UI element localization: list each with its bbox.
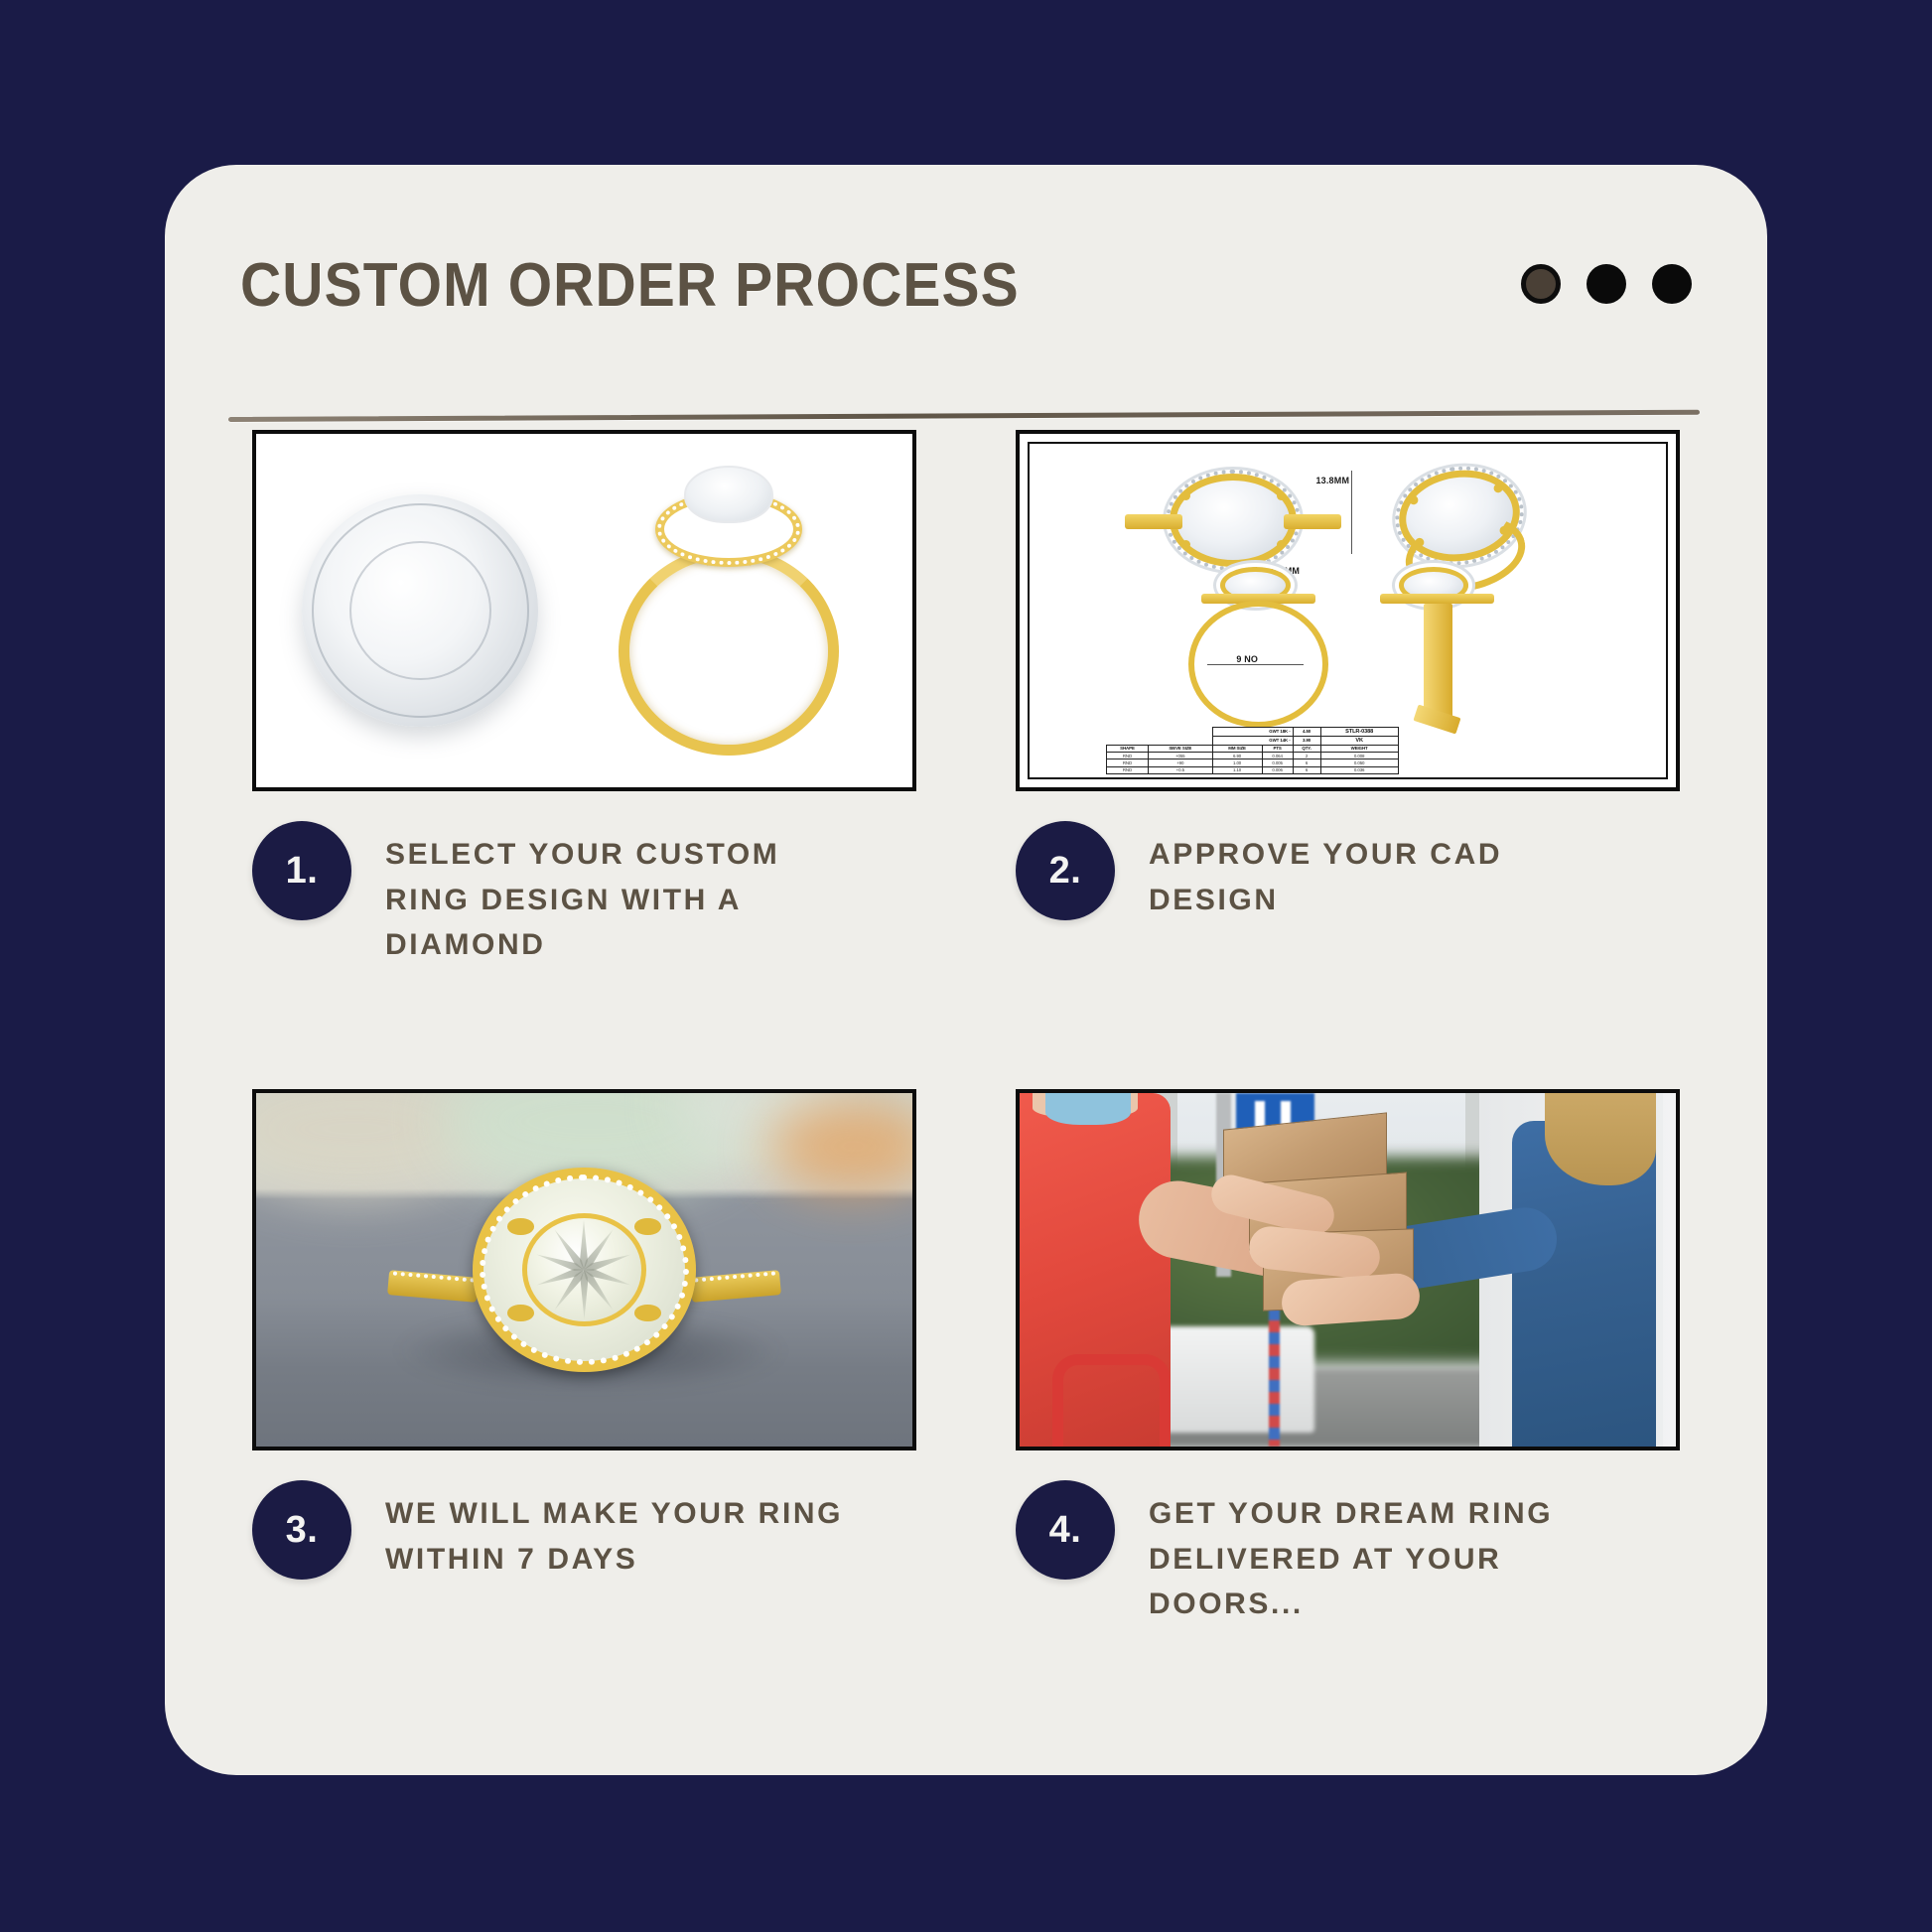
- cad-col-sieve-size: SIEVE SIZE: [1149, 745, 1212, 752]
- finished-gold-halo-ring-photo: [252, 1089, 916, 1450]
- cad-technical-drawing: 13.8MM 8.6MM: [1016, 430, 1680, 791]
- cad-gwt14k-label: GWT 14K -: [1212, 737, 1293, 746]
- cad-gwt14k-value: 3.90: [1293, 737, 1320, 746]
- cad-cell: 6: [1293, 759, 1320, 766]
- cad-shank-left: [1125, 514, 1182, 529]
- window-dot-brown-icon[interactable]: [1521, 264, 1561, 304]
- cad-cell: RND: [1106, 766, 1148, 773]
- step-cell-4: 4. GET YOUR DREAM RING DELIVERED AT YOUR…: [1016, 1089, 1680, 1711]
- cad-cell: 0.036: [1320, 766, 1398, 773]
- window-dot-black-2-icon[interactable]: [1652, 264, 1692, 304]
- steps-grid: 1. SELECT YOUR CUSTOM RING DESIGN WITH A…: [252, 430, 1680, 1711]
- cad-cell: RND: [1106, 753, 1148, 759]
- cad-side-profile: [1424, 604, 1452, 717]
- step-caption-2: 2. APPROVE YOUR CAD DESIGN: [1016, 821, 1680, 922]
- cad-dimension-line-size: [1207, 664, 1303, 666]
- window-dots: [1521, 264, 1692, 304]
- cad-col-shape: SHAPE: [1106, 745, 1148, 752]
- courier-handing-boxes-photo: [1016, 1089, 1680, 1450]
- cad-label-ring-size: 9 NO: [1236, 654, 1258, 664]
- cad-prong: [1277, 540, 1286, 549]
- cad-cell: +055: [1149, 753, 1212, 759]
- cad-cell: 0.005: [1262, 759, 1293, 766]
- cad-spec-row: GWT 18K - 4.50 STLR-0388: [1106, 728, 1398, 737]
- cad-cell: 0.050: [1320, 759, 1398, 766]
- page-title: CUSTOM ORDER PROCESS: [240, 250, 1020, 321]
- step-badge-4: 4.: [1016, 1480, 1115, 1580]
- cad-cell: RND: [1106, 759, 1148, 766]
- cad-side-gallery: [1380, 594, 1494, 604]
- step-text-4: GET YOUR DREAM RING DELIVERED AT YOUR DO…: [1149, 1480, 1615, 1627]
- step-badge-2: 2.: [1016, 821, 1115, 920]
- finished-ring-prong: [507, 1305, 533, 1321]
- finished-ring-center-stone: [522, 1213, 647, 1326]
- cad-dimension-line-height: [1351, 471, 1353, 554]
- center-stone-facets: [527, 1218, 642, 1321]
- cad-table-row: RND +90 1.00 0.005 6 0.050: [1106, 759, 1398, 766]
- gold-halo-ring-profile-graphic: [598, 466, 860, 756]
- cad-gwt18k-value: 4.50: [1293, 728, 1320, 737]
- step-badge-1: 1.: [252, 821, 351, 920]
- cad-cell: 6.90: [1212, 753, 1262, 759]
- cad-col-pts: PTS: [1262, 745, 1293, 752]
- cad-col-mm-size: MM SIZE: [1212, 745, 1262, 752]
- cad-cell: 1.00: [1212, 759, 1262, 766]
- diamond-shape: [302, 494, 538, 728]
- cad-cell: 0.008: [1320, 753, 1398, 759]
- cad-prong: [1181, 491, 1190, 500]
- loose-diamond-graphic: [302, 494, 538, 728]
- step-text-2: APPROVE YOUR CAD DESIGN: [1149, 821, 1615, 922]
- step-text-1: SELECT YOUR CUSTOM RING DESIGN WITH A DI…: [385, 821, 852, 968]
- step-cell-2: 13.8MM 8.6MM: [1016, 430, 1680, 1051]
- courier-hand-trolley: [1052, 1354, 1171, 1447]
- bokeh-blob: [768, 1100, 916, 1192]
- cad-table-row: RND +055 6.90 0.064 2 0.008: [1106, 753, 1398, 759]
- finished-ring-graphic: [473, 1168, 696, 1372]
- loose-diamond-and-gold-halo-ring-photo: [252, 430, 916, 791]
- process-card: CUSTOM ORDER PROCESS: [165, 165, 1767, 1775]
- ring-center-stone: [684, 466, 773, 523]
- finished-ring-halo: [473, 1168, 696, 1372]
- cad-sheet: 13.8MM 8.6MM: [1028, 442, 1668, 779]
- step-cell-1: 1. SELECT YOUR CUSTOM RING DESIGN WITH A…: [252, 430, 916, 1051]
- cad-prong: [1181, 540, 1190, 549]
- cad-spec-table: GWT 18K - 4.50 STLR-0388 GWT 14K - 3.90 …: [1106, 727, 1399, 774]
- step-text-3: WE WILL MAKE YOUR RING WITHIN 7 DAYS: [385, 1480, 852, 1582]
- window-dot-black-1-icon[interactable]: [1587, 264, 1626, 304]
- finished-ring-prong: [634, 1218, 660, 1235]
- cad-col-weight: WEIGHT: [1320, 745, 1398, 752]
- cad-cell: 0.006: [1262, 766, 1293, 773]
- card-header: CUSTOM ORDER PROCESS: [240, 222, 1692, 381]
- finished-ring-prong: [634, 1305, 660, 1321]
- cad-shank-right: [1284, 514, 1341, 529]
- cad-cell: 1.10: [1212, 766, 1262, 773]
- cad-table-row: RND +0.5 1.10 0.006 6 0.036: [1106, 766, 1398, 773]
- cad-view-top-front: [1170, 474, 1297, 567]
- cad-style-code: STLR-0388: [1320, 728, 1398, 737]
- header-divider: [228, 410, 1700, 422]
- cad-cell: 6: [1293, 766, 1320, 773]
- step-cell-3: 3. WE WILL MAKE YOUR RING WITHIN 7 DAYS: [252, 1089, 916, 1711]
- step-caption-1: 1. SELECT YOUR CUSTOM RING DESIGN WITH A…: [252, 821, 916, 968]
- step-caption-4: 4. GET YOUR DREAM RING DELIVERED AT YOUR…: [1016, 1480, 1680, 1627]
- cad-table-header-row: SHAPE SIEVE SIZE MM SIZE PTS QTY. WEIGHT: [1106, 745, 1398, 752]
- diamond-table-ring: [349, 541, 491, 681]
- finished-ring-prong: [507, 1218, 533, 1235]
- cad-halo-dots-1: [1166, 470, 1301, 571]
- cad-cell: 2: [1293, 753, 1320, 759]
- cad-gwt18k-label: GWT 18K -: [1212, 728, 1293, 737]
- cad-cell: +90: [1149, 759, 1212, 766]
- step-caption-3: 3. WE WILL MAKE YOUR RING WITHIN 7 DAYS: [252, 1480, 916, 1582]
- cad-cell: +0.5: [1149, 766, 1212, 773]
- cad-spec-row: GWT 14K - 3.90 VK: [1106, 737, 1398, 746]
- cad-vendor-code: VK: [1320, 737, 1398, 746]
- step-badge-3: 3.: [252, 1480, 351, 1580]
- cad-cell: 0.064: [1262, 753, 1293, 759]
- cad-col-qty: QTY.: [1293, 745, 1320, 752]
- courier-face-mask: [1045, 1093, 1131, 1125]
- cad-label-height: 13.8MM: [1315, 476, 1349, 485]
